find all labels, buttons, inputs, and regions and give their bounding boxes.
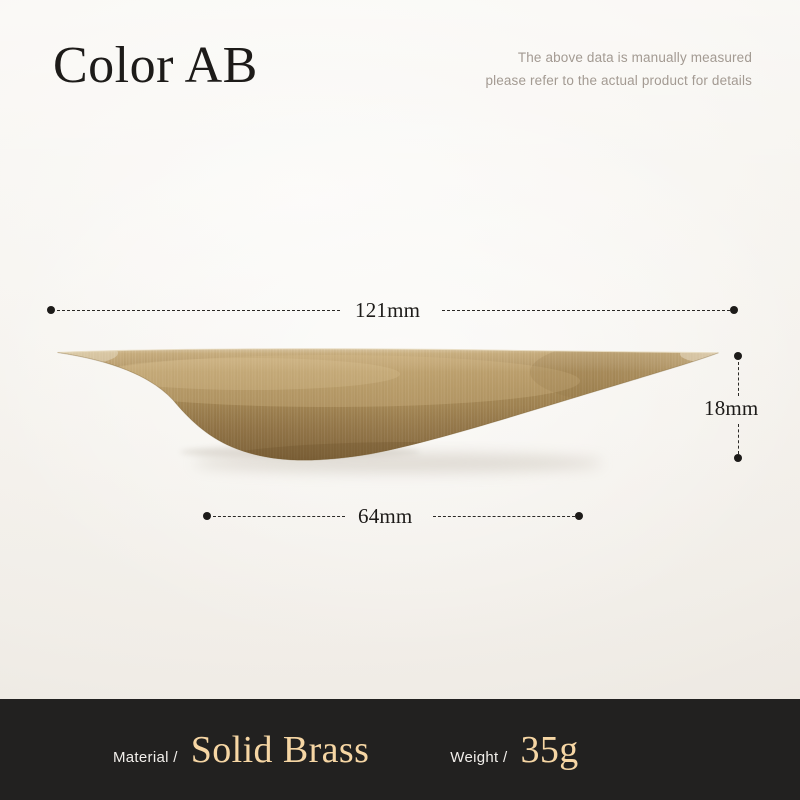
dimension-line-right-121mm (442, 310, 730, 311)
dimension-line-left-121mm (57, 310, 340, 311)
dimension-label-121mm: 121mm (355, 298, 420, 323)
product-spec-image: Color AB The above data is manually meas… (0, 0, 800, 800)
dimension-endpoint-left-121mm (47, 306, 55, 314)
disclaimer-line-1: The above data is manually measured (485, 46, 752, 69)
dimension-label-64mm: 64mm (358, 504, 412, 529)
dimension-line-right-64mm (433, 516, 575, 517)
weight-label: Weight / (450, 749, 507, 766)
dimension-endpoint-right-121mm (730, 306, 738, 314)
spec-weight: Weight / 35g (450, 728, 578, 772)
dimension-endpoint-bottom-18mm (734, 454, 742, 462)
dimension-label-18mm: 18mm (704, 396, 758, 421)
dimension-line-bottom-18mm (738, 424, 739, 454)
dimension-endpoint-right-64mm (575, 512, 583, 520)
background-surface (0, 0, 800, 699)
spec-footer-bar: Material / Solid Brass Weight / 35g (0, 699, 800, 800)
dimension-endpoint-left-64mm (203, 512, 211, 520)
weight-value: 35g (520, 728, 578, 772)
disclaimer-text: The above data is manually measured plea… (485, 46, 752, 92)
dimension-line-left-64mm (213, 516, 345, 517)
dimension-endpoint-top-18mm (734, 352, 742, 360)
material-value: Solid Brass (191, 728, 370, 772)
material-label: Material / (113, 749, 178, 766)
page-title: Color AB (53, 37, 258, 94)
dimension-line-top-18mm (738, 362, 739, 396)
spec-material: Material / Solid Brass (113, 728, 369, 772)
disclaimer-line-2: please refer to the actual product for d… (485, 69, 752, 92)
